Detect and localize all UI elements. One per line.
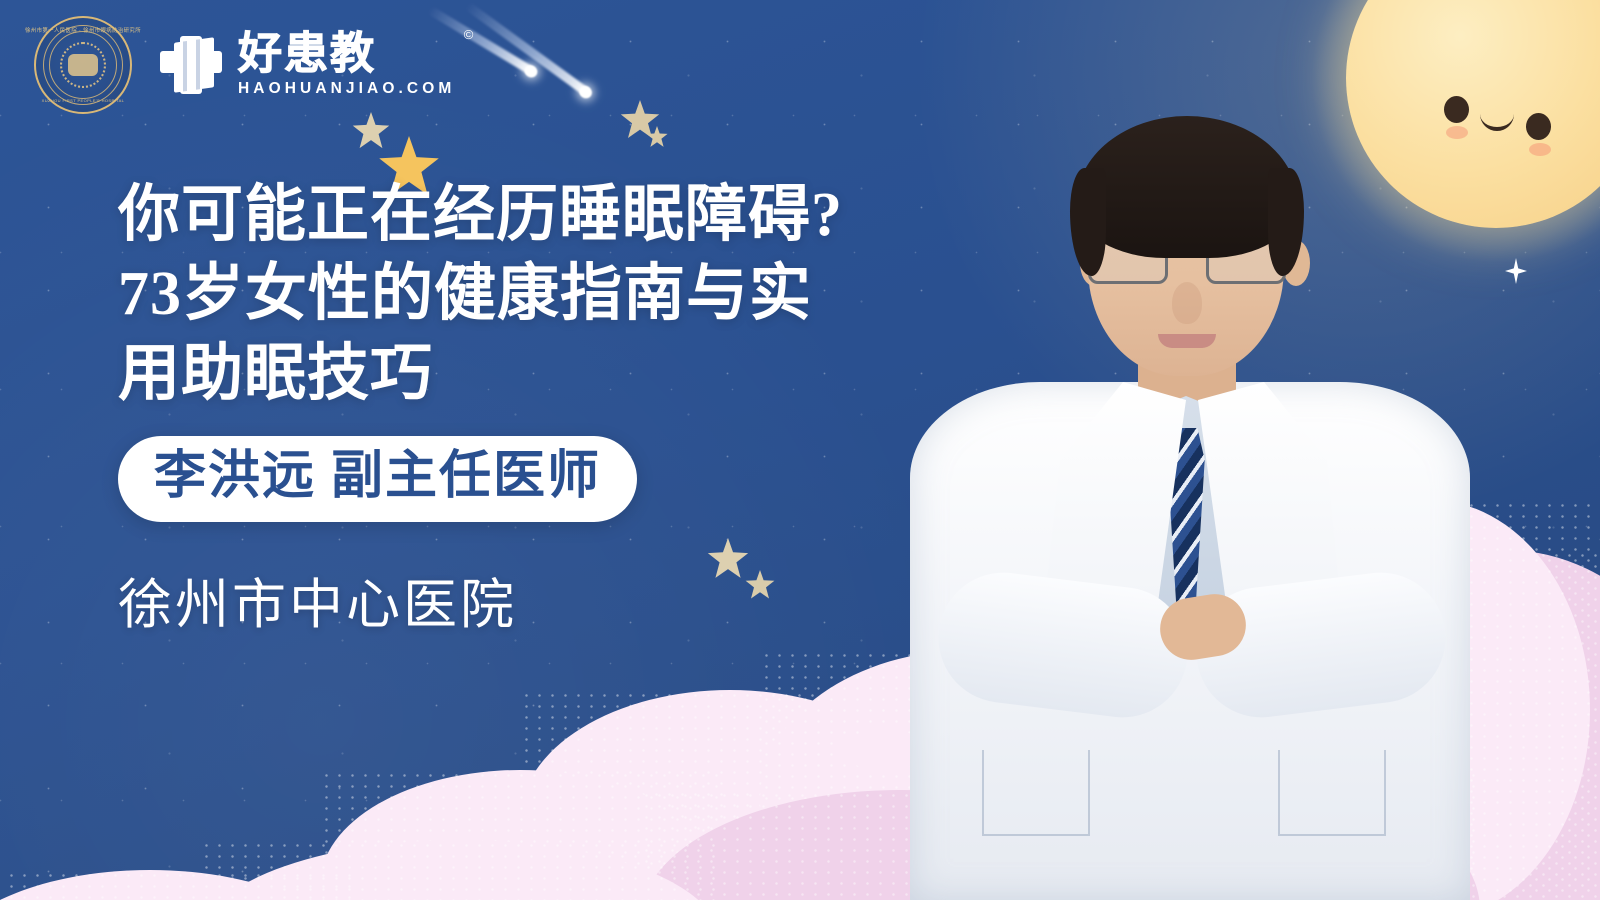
- brand-name-cn-label: 好患教: [238, 29, 376, 78]
- headline-line-3: 用助眠技巧: [118, 335, 1018, 414]
- poster-canvas: 徐州市第一人民医院 · 徐州市眼病防治研究所 XUZHOU FIRST PEOP…: [0, 0, 1600, 900]
- hospital-name: 徐州市中心医院: [118, 560, 1018, 639]
- headline-line-1: 你可能正在经历睡眠障碍?: [118, 176, 1018, 255]
- speaker-badge: 李洪远 副主任医师: [118, 436, 637, 522]
- open-book-shape: [174, 37, 214, 93]
- moon-smile: [1480, 111, 1514, 131]
- emblem-arc-text-top: 徐州市第一人民医院 · 徐州市眼病防治研究所: [25, 26, 141, 34]
- emblem-arc-text: 徐州市第一人民医院 · 徐州市眼病防治研究所 XUZHOU FIRST PEOP…: [36, 18, 130, 112]
- coat-pocket-right: [1278, 750, 1386, 836]
- nose: [1172, 282, 1202, 324]
- header-logos: 徐州市第一人民医院 · 徐州市眼病防治研究所 XUZHOU FIRST PEOP…: [34, 16, 455, 114]
- registered-mark: ©: [464, 28, 476, 41]
- coat-pocket-left: [982, 750, 1090, 836]
- brand-domain: HAOHUANJIAO.COM: [238, 80, 455, 98]
- mouth: [1158, 334, 1216, 348]
- brand-logo: 好患教© HAOHUANJIAO.COM: [158, 32, 455, 98]
- cross-book-icon: [158, 34, 224, 96]
- brand-text-block: 好患教© HAOHUANJIAO.COM: [238, 32, 455, 98]
- hair: [1076, 116, 1298, 258]
- page-title: 你可能正在经历睡眠障碍? 73岁女性的健康指南与实 用助眠技巧: [118, 176, 1018, 414]
- headline-line-2: 73岁女性的健康指南与实: [118, 255, 1018, 334]
- moon-eye-right: [1526, 113, 1551, 140]
- emblem-arc-text-bottom: XUZHOU FIRST PEOPLE'S HOSPITAL: [42, 98, 125, 103]
- brand-name-cn: 好患教©: [238, 32, 455, 76]
- hospital-emblem: 徐州市第一人民医院 · 徐州市眼病防治研究所 XUZHOU FIRST PEOP…: [34, 16, 132, 114]
- main-content: 你可能正在经历睡眠障碍? 73岁女性的健康指南与实 用助眠技巧 李洪远 副主任医…: [118, 176, 1018, 639]
- moon-blush-right: [1529, 143, 1551, 156]
